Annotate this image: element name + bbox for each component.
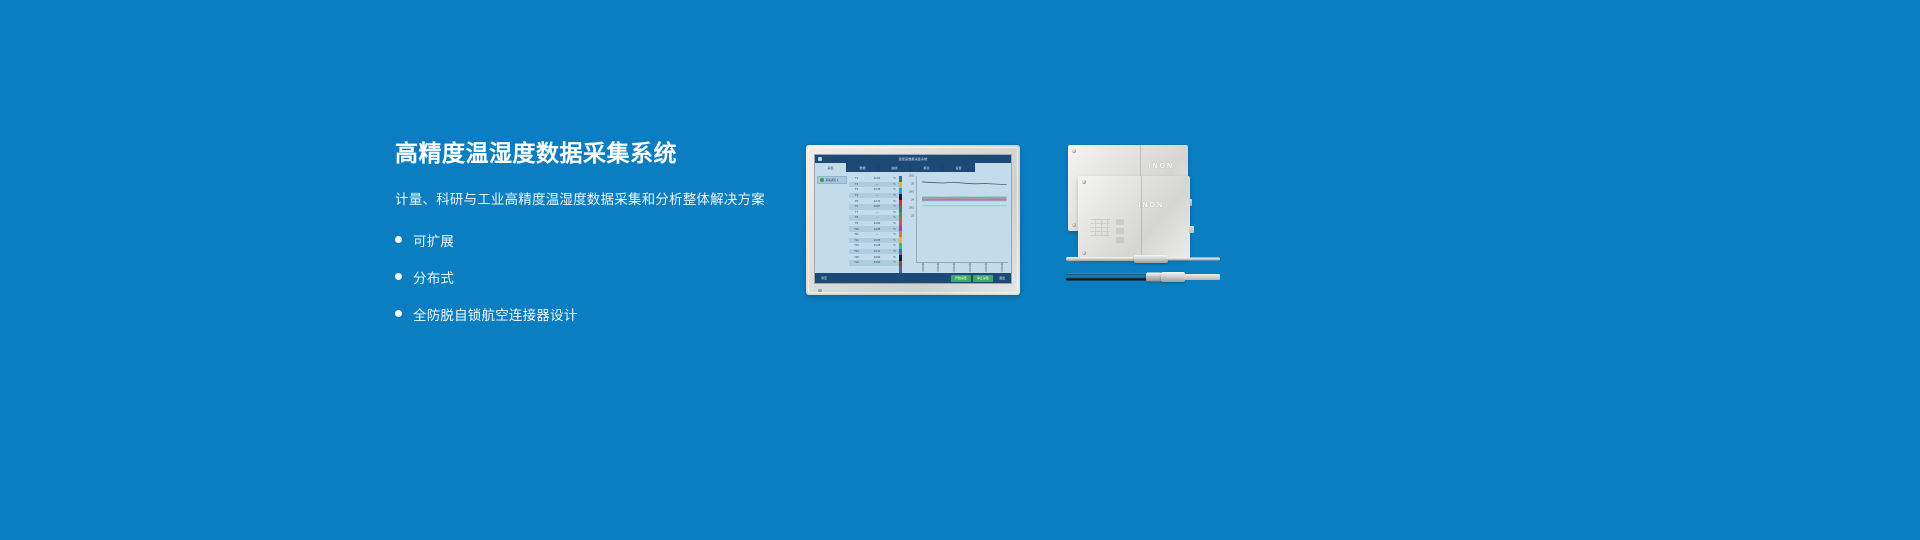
table-cell-value: 24.11 bbox=[864, 250, 890, 253]
table-row[interactable]: T1624.94℃ bbox=[849, 260, 899, 266]
feature-list: 可扩展 分布式 全防脱自锁航空连接器设计 bbox=[395, 230, 815, 324]
table-cell-channel: T16 bbox=[849, 261, 864, 264]
table-cell-channel: T11 bbox=[849, 233, 864, 236]
tab-label: 采集 bbox=[827, 166, 833, 170]
channel-sidebar: 采集通道 1 bbox=[815, 172, 849, 273]
table-cell-unit: ℃ bbox=[890, 228, 899, 231]
feature-label: 全防脱自锁航空连接器设计 bbox=[413, 304, 577, 324]
tab-settings[interactable]: 设置 bbox=[943, 163, 975, 172]
table-cell-unit: ℃ bbox=[890, 216, 899, 219]
bullet-dot-icon bbox=[395, 236, 402, 243]
axis-tick-label: 10:25:00 bbox=[922, 263, 925, 272]
tab-curve[interactable]: 曲线 bbox=[879, 163, 911, 172]
aviation-connector-cable bbox=[1066, 272, 1220, 281]
screw-icon bbox=[1072, 149, 1076, 153]
table-cell-unit: ℃ bbox=[890, 188, 899, 191]
table-cell-unit: ℃ bbox=[890, 244, 899, 247]
table-cell-value: 24.79 bbox=[864, 188, 890, 191]
brand-logo: INON bbox=[1149, 163, 1175, 170]
module-seam bbox=[1141, 176, 1142, 259]
chart-plot-area bbox=[916, 176, 1008, 263]
table-cell-value: — bbox=[864, 183, 890, 186]
table-cell-channel: T14 bbox=[849, 250, 864, 253]
tab-data[interactable]: 数据 bbox=[847, 163, 879, 172]
list-item: 分布式 bbox=[395, 267, 815, 287]
device-stand-foot bbox=[818, 289, 822, 292]
page-subtitle: 计量、科研与工业高精度温湿度数据采集和分析整体解决方案 bbox=[395, 188, 815, 208]
tab-label: 曲线 bbox=[891, 166, 897, 170]
tab-report[interactable]: 报表 bbox=[911, 163, 943, 172]
sidebar-item-label: 采集通道 1 bbox=[826, 178, 839, 182]
axis-tick-label: 25.5 bbox=[909, 175, 914, 178]
table-cell-value: — bbox=[864, 194, 890, 197]
axis-tick-label: 10:40:00 bbox=[969, 263, 972, 272]
table-cell-value: 24.88 bbox=[864, 228, 890, 231]
table-cell-channel: T1 bbox=[849, 177, 864, 180]
product-banner: 高精度温湿度数据采集系统 计量、科研与工业高精度温湿度数据采集和分析整体解决方案… bbox=[0, 0, 1920, 540]
table-cell-value: 21.81 bbox=[864, 177, 890, 180]
engraved-label-graphic bbox=[1090, 219, 1132, 249]
stop-collect-button[interactable]: 停止采集 bbox=[973, 275, 993, 282]
table-cell-value: — bbox=[864, 233, 890, 236]
tab-bar-filler bbox=[975, 163, 1011, 172]
table-cell-value: — bbox=[864, 211, 890, 214]
table-cell-value: 24.90 bbox=[864, 256, 890, 259]
axis-tick-label: 10:50:00 bbox=[1001, 263, 1004, 272]
table-cell-channel: T7 bbox=[849, 211, 864, 214]
connector-port bbox=[1189, 226, 1194, 233]
screw-icon bbox=[1072, 223, 1076, 227]
app-tab-bar: 采集 数据 曲线 报表 设置 bbox=[815, 163, 1011, 172]
app-body: 采集通道 1 T121.81℃T2—℃T324.79℃T4—℃T524.72℃T… bbox=[815, 172, 1011, 273]
table-cell-unit: ℃ bbox=[890, 261, 899, 264]
acquisition-module-front: INON bbox=[1078, 176, 1190, 259]
table-cell-unit: ℃ bbox=[890, 194, 899, 197]
table-cell-value: — bbox=[864, 216, 890, 219]
table-cell-value: 24.87 bbox=[864, 205, 890, 208]
axis-tick-label: 10:35:00 bbox=[953, 263, 956, 272]
axis-tick-label: 24.5 bbox=[909, 190, 914, 193]
table-cell-channel: T9 bbox=[849, 222, 864, 225]
table-cell-unit: ℃ bbox=[890, 211, 899, 214]
table-cell-unit: ℃ bbox=[890, 183, 899, 186]
bullet-dot-icon bbox=[395, 310, 402, 317]
table-cell-value: 24.72 bbox=[864, 200, 890, 203]
table-cell-unit: ℃ bbox=[890, 200, 899, 203]
clear-button[interactable]: 清空 bbox=[817, 275, 831, 282]
table-cell-channel: T3 bbox=[849, 188, 864, 191]
tab-label: 数据 bbox=[859, 166, 865, 170]
chart-y-axis: 25.52524.52423.523 bbox=[903, 176, 915, 263]
table-cell-channel: T6 bbox=[849, 205, 864, 208]
temperature-probe bbox=[1066, 255, 1220, 263]
table-cell-value: 24.96 bbox=[864, 239, 890, 242]
list-item: 全防脱自锁航空连接器设计 bbox=[395, 304, 815, 324]
table-cell-unit: ℃ bbox=[890, 233, 899, 236]
table-cell-channel: T12 bbox=[849, 239, 864, 242]
table-cell-value: 24.94 bbox=[864, 261, 890, 264]
table-cell-unit: ℃ bbox=[890, 250, 899, 253]
channel-value-table: T121.81℃T2—℃T324.79℃T4—℃T524.72℃T624.87℃… bbox=[849, 172, 899, 273]
sidebar-item-channel-1[interactable]: 采集通道 1 bbox=[817, 176, 847, 184]
tab-collect[interactable]: 采集 bbox=[815, 163, 847, 172]
axis-tick-label: 24 bbox=[911, 198, 914, 201]
axis-tick-label: 25 bbox=[911, 182, 914, 185]
feature-label: 分布式 bbox=[413, 267, 454, 287]
panel-pc-device: 温湿度数据采集系统 采集 数据 曲线 报表 设置 bbox=[806, 145, 1020, 295]
tab-label: 设置 bbox=[955, 166, 961, 170]
app-title: 温湿度数据采集系统 bbox=[815, 157, 1011, 161]
table-cell-unit: ℃ bbox=[890, 256, 899, 259]
axis-tick-label: 23.5 bbox=[909, 206, 914, 209]
axis-tick-label: 23 bbox=[911, 214, 914, 217]
start-collect-button[interactable]: 开始采集 bbox=[951, 275, 971, 282]
screw-icon bbox=[1082, 180, 1086, 184]
brand-logo: INON bbox=[1139, 202, 1165, 209]
series-color-legend-bar bbox=[899, 176, 902, 273]
app-titlebar: 温湿度数据采集系统 bbox=[815, 155, 1011, 163]
table-cell-value: 24.90 bbox=[864, 222, 890, 225]
list-item: 可扩展 bbox=[395, 230, 815, 250]
table-cell-unit: ℃ bbox=[890, 177, 899, 180]
table-cell-channel: T15 bbox=[849, 256, 864, 259]
axis-tick-label: 10:45:00 bbox=[985, 263, 988, 272]
table-cell-value: 24.28 bbox=[864, 244, 890, 247]
banner-copy: 高精度温湿度数据采集系统 计量、科研与工业高精度温湿度数据采集和分析整体解决方案… bbox=[395, 140, 815, 341]
table-cell-unit: ℃ bbox=[890, 239, 899, 242]
table-cell-channel: T13 bbox=[849, 244, 864, 247]
realtime-chart: 25.52524.52423.523 10:25:0010:30:0010:35… bbox=[903, 176, 1008, 273]
table-cell-channel: T10 bbox=[849, 228, 864, 231]
chart-series-T12 bbox=[922, 176, 1007, 262]
exit-button[interactable]: 退出 bbox=[995, 275, 1009, 282]
table-cell-channel: T8 bbox=[849, 216, 864, 219]
page-title: 高精度温湿度数据采集系统 bbox=[395, 140, 815, 168]
table-cell-unit: ℃ bbox=[890, 205, 899, 208]
bullet-dot-icon bbox=[395, 273, 402, 280]
table-cell-channel: T4 bbox=[849, 194, 864, 197]
table-cell-channel: T2 bbox=[849, 183, 864, 186]
device-screen: 温湿度数据采集系统 采集 数据 曲线 报表 设置 bbox=[814, 154, 1012, 284]
status-dot-icon bbox=[820, 178, 824, 182]
feature-label: 可扩展 bbox=[413, 230, 454, 250]
app-footer: 清空 开始采集 停止采集 退出 bbox=[815, 273, 1011, 283]
table-cell-unit: ℃ bbox=[890, 222, 899, 225]
axis-tick-label: 10:30:00 bbox=[937, 263, 940, 272]
chart-x-axis: 10:25:0010:30:0010:35:0010:40:0010:45:00… bbox=[916, 263, 1008, 273]
tab-label: 报表 bbox=[923, 166, 929, 170]
table-cell-channel: T5 bbox=[849, 200, 864, 203]
